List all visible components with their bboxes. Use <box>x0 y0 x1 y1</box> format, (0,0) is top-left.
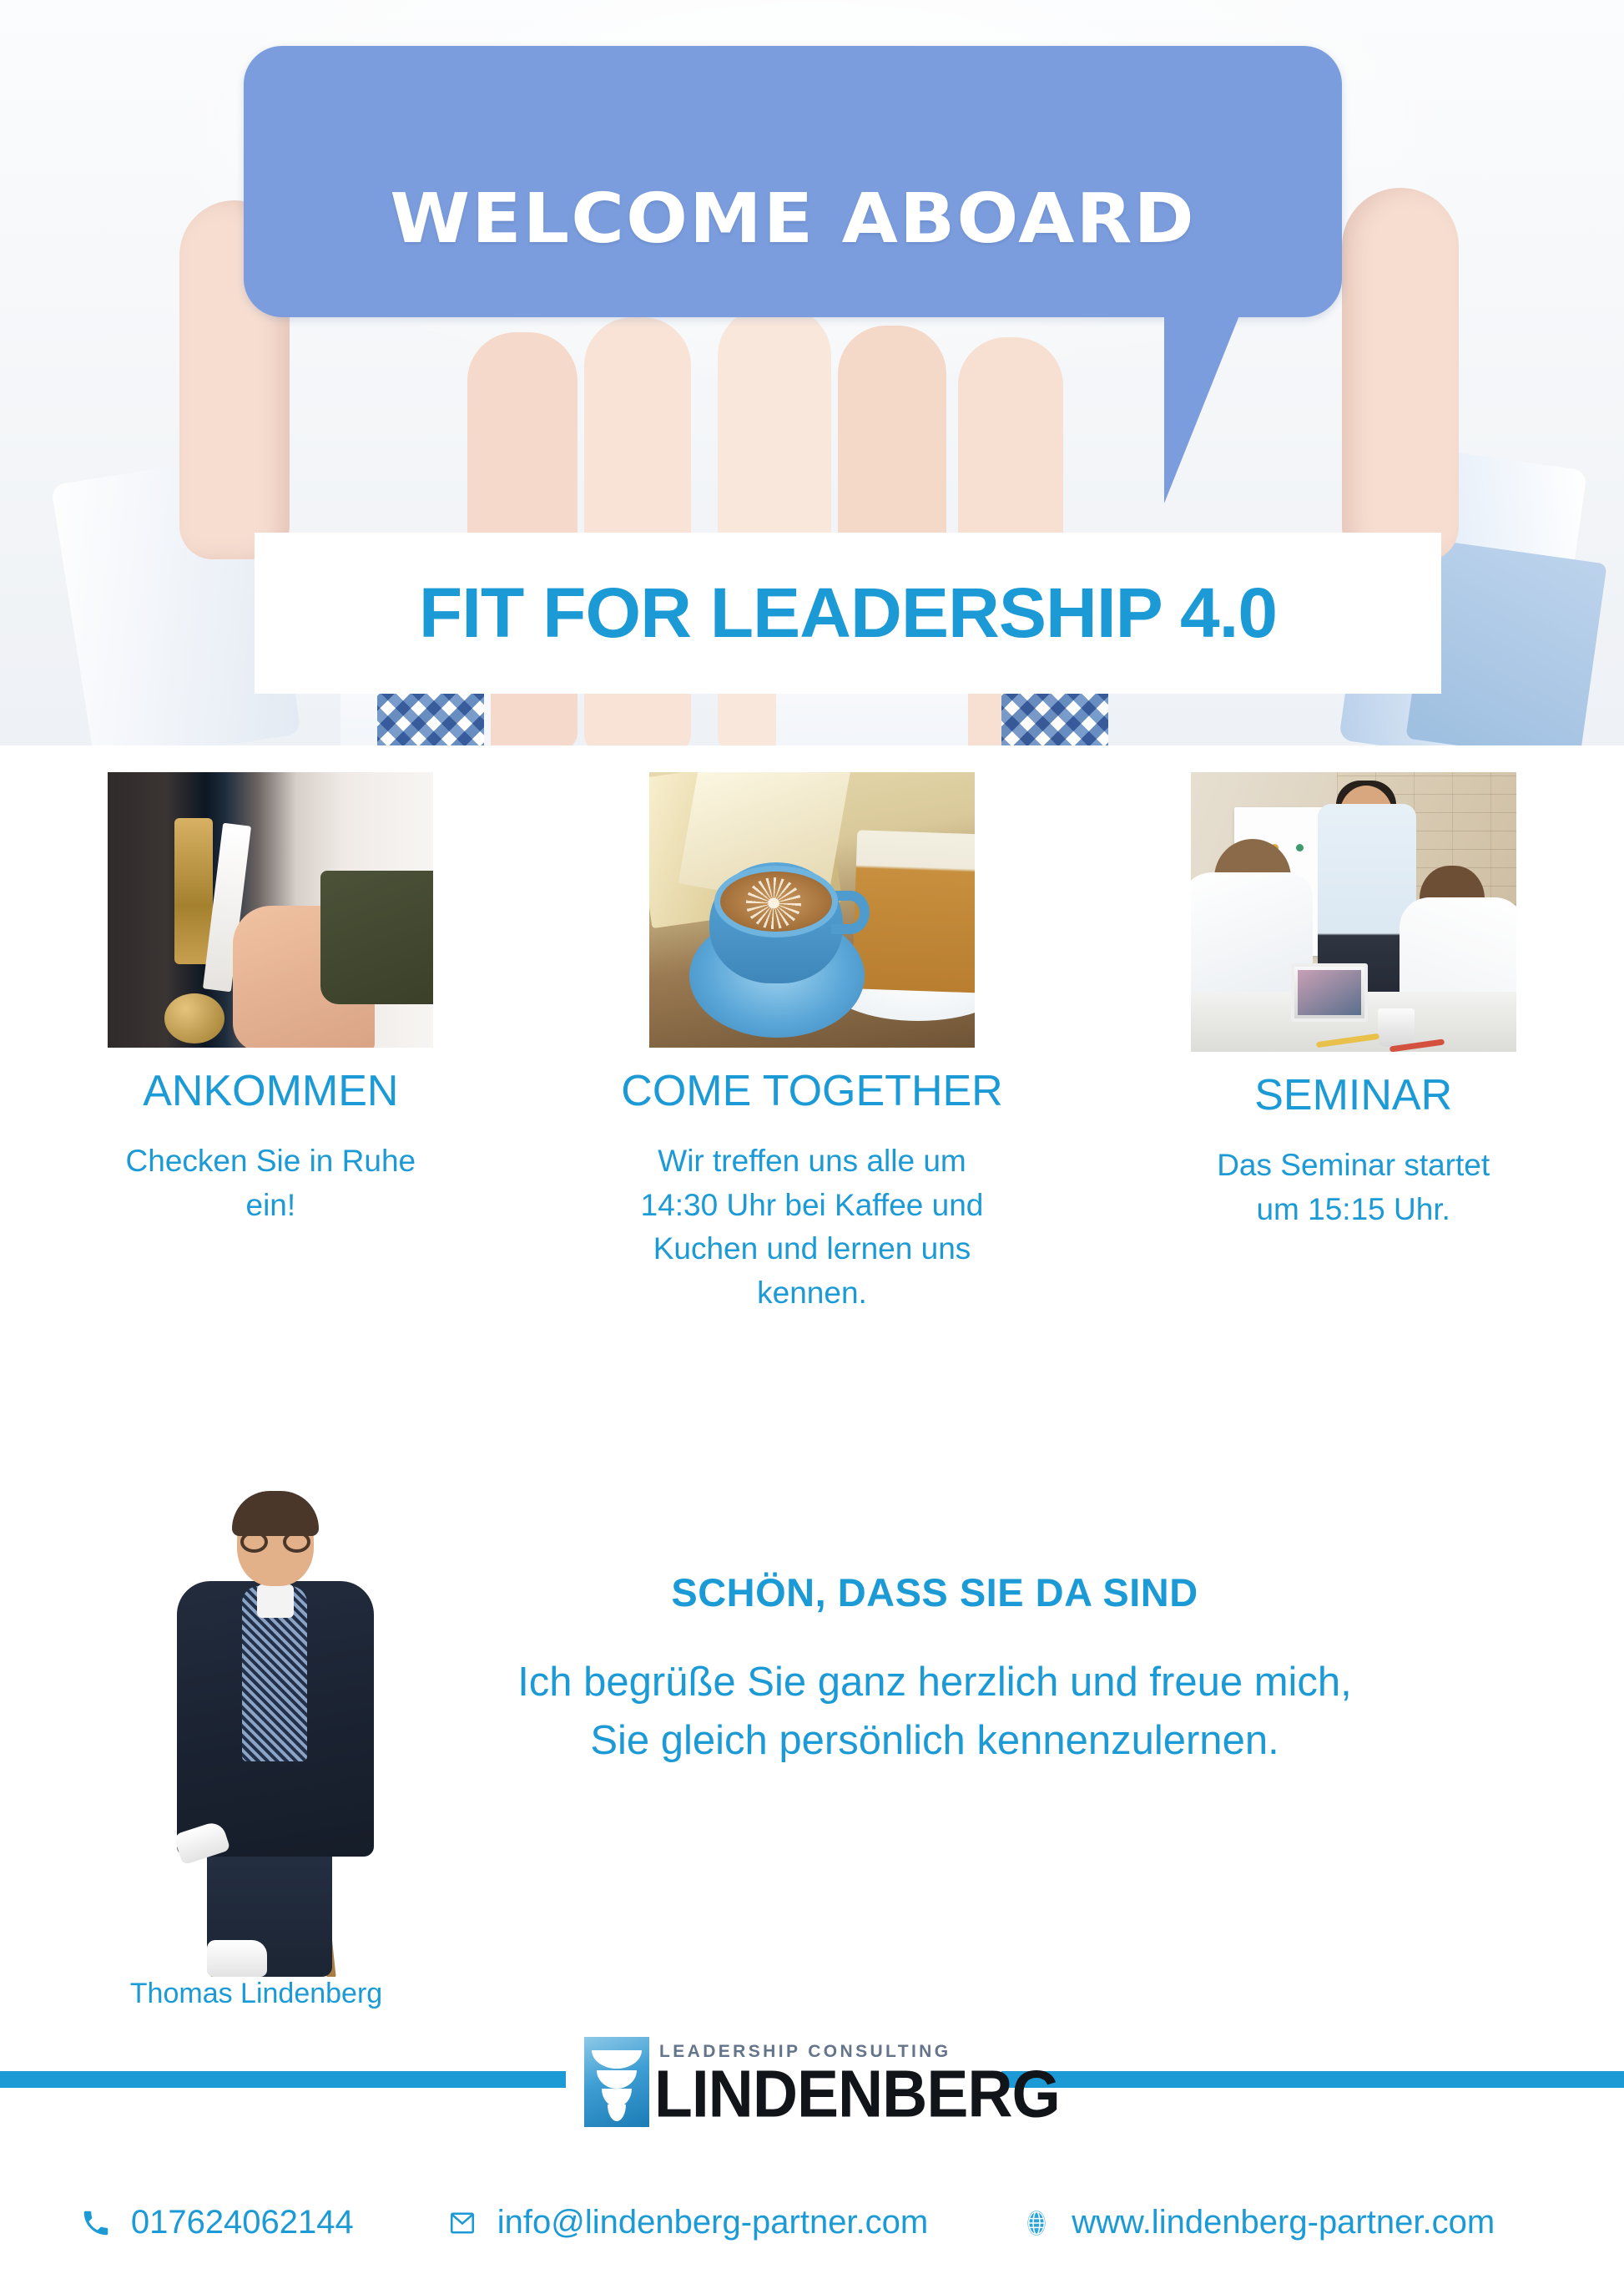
phone-number: 017624062144 <box>131 2204 354 2241</box>
column-title: ANKOMMEN <box>0 1066 542 1116</box>
column-body: Wir treffen uns alle um 14:30 Uhr bei Ka… <box>624 1139 1000 1315</box>
contact-website[interactable]: www.lindenberg-partner.com <box>1020 2204 1495 2241</box>
contact-phone[interactable]: 017624062144 <box>79 2204 354 2241</box>
envelope-icon <box>446 2206 479 2240</box>
welcome-aboard-text: WELCOME ABOARD <box>211 179 1375 259</box>
company-logo: LEADERSHIP CONSULTING LINDENBERG <box>584 2010 985 2127</box>
page-title: FIT FOR LEADERSHIP 4.0 <box>419 573 1277 654</box>
door-keycard-photo <box>108 772 433 1048</box>
divider-left <box>0 2071 566 2088</box>
agenda-column-seminar: SEMINAR Das Seminar startet um 15:15 Uhr… <box>1082 772 1624 1348</box>
presenter-name: Thomas Lindenberg <box>52 1975 461 2014</box>
presenter-photo <box>52 1376 461 1977</box>
title-banner: FIT FOR LEADERSHIP 4.0 <box>255 533 1441 694</box>
logo-wordmark: LINDENBERG <box>654 2061 1060 2128</box>
logo-chevron-icon <box>584 2037 649 2127</box>
column-title: COME TOGETHER <box>542 1066 1083 1116</box>
globe-icon <box>1020 2206 1053 2240</box>
website-url: www.lindenberg-partner.com <box>1072 2204 1495 2241</box>
column-body: Das Seminar startet um 15:15 Uhr. <box>1195 1144 1512 1231</box>
agenda-column-come-together: COME TOGETHER Wir treffen uns alle um 14… <box>542 772 1083 1348</box>
contact-email[interactable]: info@lindenberg-partner.com <box>446 2204 928 2241</box>
hero-banner: WELCOME ABOARD FIT FOR LEADERSHIP 4.0 <box>0 0 1624 745</box>
greeting-heading: SCHÖN, DASS SIE DA SIND <box>484 1569 1385 1615</box>
column-title: SEMINAR <box>1082 1070 1624 1120</box>
phone-icon <box>79 2206 113 2240</box>
coffee-cake-photo <box>649 772 975 1048</box>
speech-bubble: WELCOME ABOARD <box>244 46 1342 317</box>
column-body: Checken Sie in Ruhe ein! <box>112 1139 429 1227</box>
agenda-columns: ANKOMMEN Checken Sie in Ruhe ein! COME T… <box>0 772 1624 1348</box>
presenter-block: Thomas Lindenberg <box>52 1376 461 2052</box>
divider-right <box>1001 2071 1624 2088</box>
email-address: info@lindenberg-partner.com <box>497 2204 928 2241</box>
seminar-room-photo <box>1191 772 1516 1052</box>
speech-bubble-tail <box>1164 311 1241 503</box>
greeting-body: Ich begrüße Sie ganz herzlich und freue … <box>484 1654 1385 1770</box>
contact-footer: 017624062144 info@lindenberg-partner.com… <box>0 2204 1624 2241</box>
agenda-column-ankommen: ANKOMMEN Checken Sie in Ruhe ein! <box>0 772 542 1348</box>
greeting-block: SCHÖN, DASS SIE DA SIND Ich begrüße Sie … <box>484 1569 1385 1770</box>
